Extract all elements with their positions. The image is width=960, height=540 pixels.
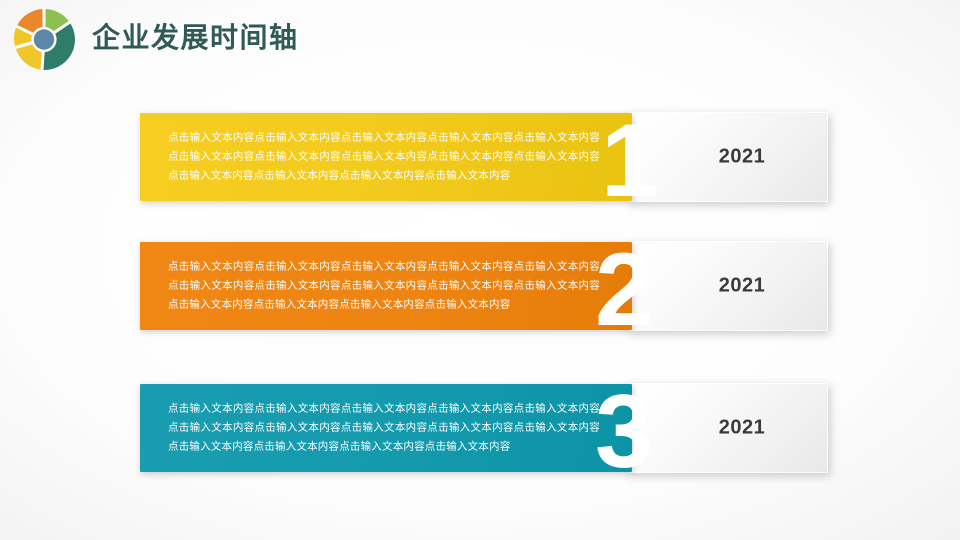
content-bar-3[interactable]: 点击输入文本内容点击输入文本内容点击输入文本内容点击输入文本内容点击输入文本内容… bbox=[140, 384, 632, 472]
content-bar-2[interactable]: 点击输入文本内容点击输入文本内容点击输入文本内容点击输入文本内容点击输入文本内容… bbox=[140, 242, 632, 330]
timeline-item-2[interactable]: 2021 点击输入文本内容点击输入文本内容点击输入文本内容点击输入文本内容点击输… bbox=[140, 241, 828, 331]
content-text-3: 点击输入文本内容点击输入文本内容点击输入文本内容点击输入文本内容点击输入文本内容… bbox=[168, 400, 600, 457]
content-text-1: 点击输入文本内容点击输入文本内容点击输入文本内容点击输入文本内容点击输入文本内容… bbox=[168, 129, 600, 186]
timeline-item-1[interactable]: 2021 点击输入文本内容点击输入文本内容点击输入文本内容点击输入文本内容点击输… bbox=[140, 112, 828, 202]
year-label-3: 2021 bbox=[628, 417, 828, 440]
year-label-2: 2021 bbox=[628, 275, 828, 298]
slide-canvas: 企业发展时间轴 2021 点击输入文本内容点击输入文本内容点击输入文本内容点击输… bbox=[0, 0, 960, 540]
content-text-2: 点击输入文本内容点击输入文本内容点击输入文本内容点击输入文本内容点击输入文本内容… bbox=[168, 258, 600, 315]
year-panel-2[interactable]: 2021 bbox=[628, 241, 828, 331]
content-bar-1[interactable]: 点击输入文本内容点击输入文本内容点击输入文本内容点击输入文本内容点击输入文本内容… bbox=[140, 113, 632, 201]
slide-header: 企业发展时间轴 bbox=[0, 0, 960, 78]
timeline-item-3[interactable]: 2021 点击输入文本内容点击输入文本内容点击输入文本内容点击输入文本内容点击输… bbox=[140, 383, 828, 473]
page-title: 企业发展时间轴 bbox=[92, 18, 299, 58]
year-panel-1[interactable]: 2021 bbox=[628, 112, 828, 202]
year-panel-3[interactable]: 2021 bbox=[628, 383, 828, 473]
year-label-1: 2021 bbox=[628, 146, 828, 169]
pie-chart-logo-icon bbox=[9, 7, 79, 72]
